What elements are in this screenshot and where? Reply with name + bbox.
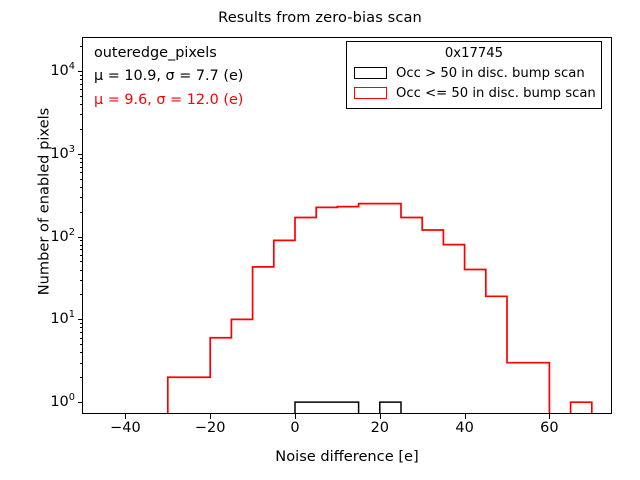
y-tick-minor bbox=[80, 352, 83, 353]
y-tick-minor bbox=[80, 255, 83, 256]
x-tick-major bbox=[465, 413, 466, 419]
y-tick-minor bbox=[80, 129, 83, 130]
x-tick-major bbox=[380, 413, 381, 419]
x-tick-major bbox=[549, 413, 550, 419]
legend-entry-black: Occ > 50 in disc. bump scan bbox=[354, 63, 594, 83]
legend-entry-red: Occ <= 50 in disc. bump scan bbox=[354, 83, 594, 103]
x-axis-label: Noise difference [e] bbox=[82, 448, 612, 465]
x-tick-major bbox=[210, 413, 211, 419]
y-tick-minor bbox=[80, 332, 83, 333]
y-tick-label: 104 bbox=[50, 64, 75, 79]
x-tick-label: 40 bbox=[455, 421, 473, 436]
y-tick-label: 100 bbox=[50, 395, 75, 410]
y-tick-minor bbox=[80, 240, 83, 241]
y-tick-major bbox=[78, 319, 84, 320]
x-tick-label: −20 bbox=[195, 421, 226, 436]
y-tick-label: 102 bbox=[50, 229, 75, 244]
y-tick-minor bbox=[80, 89, 83, 90]
y-tick-minor bbox=[80, 114, 83, 115]
y-tick-major bbox=[78, 154, 84, 155]
y-tick-minor bbox=[80, 162, 83, 163]
y-tick-minor bbox=[80, 294, 83, 295]
y-tick-minor bbox=[80, 179, 83, 180]
legend-label-red: Occ <= 50 in disc. bump scan bbox=[396, 86, 596, 101]
stats-annotation: outeredge_pixels μ = 10.9, σ = 7.7 (e) μ… bbox=[94, 42, 243, 112]
x-tick-major bbox=[125, 413, 126, 419]
y-tick-minor bbox=[80, 245, 83, 246]
x-tick-label: 60 bbox=[540, 421, 558, 436]
y-tick-label: 101 bbox=[50, 312, 75, 327]
x-tick-label: 20 bbox=[371, 421, 389, 436]
y-tick-minor bbox=[80, 327, 83, 328]
y-tick-minor bbox=[80, 46, 83, 47]
y-tick-minor bbox=[80, 338, 83, 339]
y-tick-minor bbox=[80, 197, 83, 198]
y-tick-minor bbox=[80, 261, 83, 262]
y-tick-minor bbox=[80, 96, 83, 97]
y-tick-minor bbox=[80, 75, 83, 76]
y-tick-minor bbox=[80, 363, 83, 364]
y-tick-minor bbox=[80, 79, 83, 80]
chart-title: Results from zero-bias scan bbox=[0, 9, 640, 26]
y-tick-minor bbox=[80, 187, 83, 188]
y-tick-minor bbox=[80, 344, 83, 345]
x-tick-label: 0 bbox=[290, 421, 299, 436]
y-tick-minor bbox=[80, 270, 83, 271]
x-tick-label: −40 bbox=[110, 421, 141, 436]
y-tick-minor bbox=[80, 377, 83, 378]
y-tick-minor bbox=[80, 323, 83, 324]
y-tick-major bbox=[78, 402, 84, 403]
legend-swatch-red-icon bbox=[354, 87, 387, 99]
annotation-black-stats: μ = 10.9, σ = 7.7 (e) bbox=[94, 65, 243, 88]
y-tick-minor bbox=[80, 280, 83, 281]
legend-label-black: Occ > 50 in disc. bump scan bbox=[396, 66, 585, 81]
figure-canvas: Results from zero-bias scan 100101102103… bbox=[0, 0, 640, 480]
annotation-dataset-label: outeredge_pixels bbox=[94, 42, 243, 65]
y-tick-minor bbox=[80, 158, 83, 159]
legend-swatch-black-icon bbox=[354, 67, 387, 79]
legend-title: 0x17745 bbox=[354, 46, 594, 63]
y-tick-minor bbox=[80, 104, 83, 105]
y-tick-major bbox=[78, 71, 84, 72]
legend-box: 0x17745 Occ > 50 in disc. bump scan Occ … bbox=[346, 41, 602, 109]
y-tick-minor bbox=[80, 249, 83, 250]
y-tick-label: 103 bbox=[50, 147, 75, 162]
y-tick-minor bbox=[80, 167, 83, 168]
y-tick-minor bbox=[80, 212, 83, 213]
y-axis-label: Number of enabled pixels bbox=[36, 12, 53, 392]
y-tick-major bbox=[78, 237, 84, 238]
y-tick-minor bbox=[80, 84, 83, 85]
annotation-red-stats: μ = 9.6, σ = 12.0 (e) bbox=[94, 89, 243, 112]
y-tick-minor bbox=[80, 172, 83, 173]
x-tick-major bbox=[295, 413, 296, 419]
